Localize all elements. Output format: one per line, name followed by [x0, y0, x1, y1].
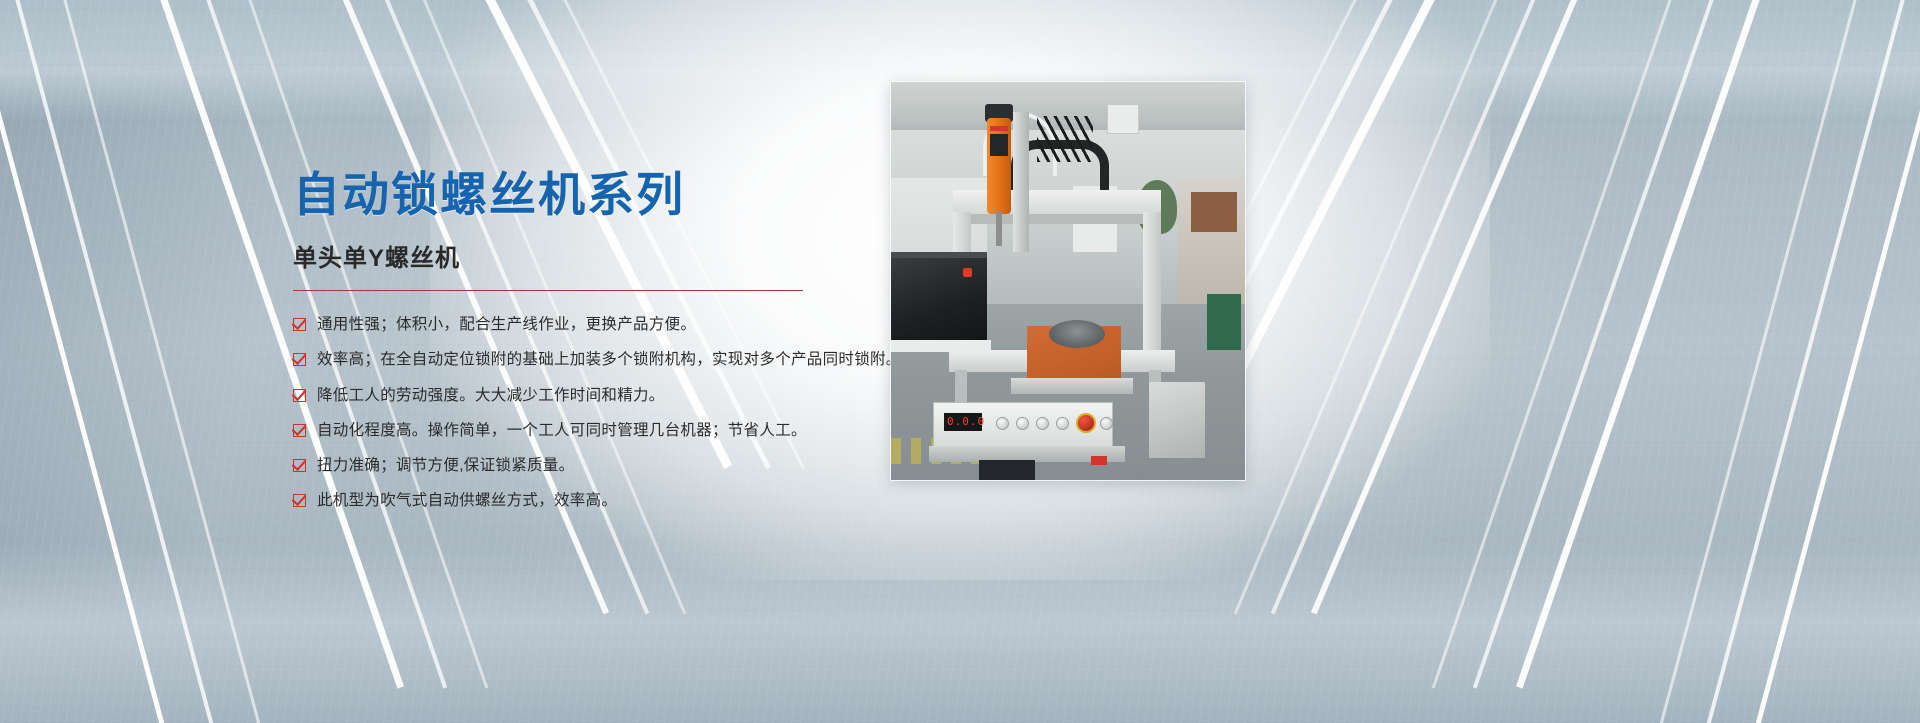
check-box-icon — [293, 318, 306, 331]
check-box-icon — [293, 353, 306, 366]
banner-content: 自动锁螺丝机系列 单头单Y螺丝机 通用性强；体积小，配合生产线作业，更换产品方便… — [293, 168, 913, 525]
panel-knob-4[interactable] — [1056, 417, 1069, 430]
screwdriver-label — [990, 134, 1008, 156]
feature-text: 效率高；在全自动定位锁附的基础上加装多个锁附机构，实现对多个产品同时锁附。 — [317, 348, 902, 371]
screw-feeder-unit — [891, 258, 987, 342]
machine-gantry-beam — [953, 190, 1161, 216]
panel-knob-1[interactable] — [996, 417, 1009, 430]
feature-list: 通用性强；体积小，配合生产线作业，更换产品方便。 效率高；在全自动定位锁附的基础… — [293, 313, 913, 513]
feeder-indicator-led — [963, 268, 972, 277]
feature-text: 此机型为吹气式自动供螺丝方式，效率高。 — [317, 489, 617, 512]
screwdriver-red-band — [990, 126, 1008, 131]
check-box-icon — [293, 424, 306, 437]
workpiece-disc — [1049, 320, 1105, 348]
check-box-icon — [293, 459, 306, 472]
screwdriver-bit — [996, 212, 1002, 246]
list-item: 效率高；在全自动定位锁附的基础上加装多个锁附机构，实现对多个产品同时锁附。 — [293, 348, 913, 371]
page-title: 自动锁螺丝机系列 — [293, 168, 913, 222]
machine-z-slide — [1013, 112, 1029, 252]
side-equipment — [1149, 382, 1205, 458]
feature-text: 扭力准确；调节方便,保证锁紧质量。 — [317, 454, 574, 477]
feeder-base-plate — [891, 340, 991, 352]
machine-wiring — [1037, 116, 1093, 162]
feature-text: 降低工人的劳动强度。大大减少工作时间和精力。 — [317, 384, 665, 407]
photo-wall-poster — [1107, 104, 1139, 134]
machine-foot-pedal — [979, 460, 1035, 480]
check-box-icon — [293, 389, 306, 402]
title-divider — [293, 290, 803, 291]
machine-gantry-rail — [953, 214, 1161, 224]
list-item: 扭力准确；调节方便,保证锁紧质量。 — [293, 454, 913, 477]
photo-carton — [1191, 192, 1237, 232]
list-item: 通用性强；体积小，配合生产线作业，更换产品方便。 — [293, 313, 913, 336]
power-switch[interactable] — [1091, 456, 1107, 465]
list-item: 此机型为吹气式自动供螺丝方式，效率高。 — [293, 489, 913, 512]
feature-text: 自动化程度高。操作简单，一个工人可同时管理几台机器；节省人工。 — [317, 419, 807, 442]
list-item: 降低工人的劳动强度。大大减少工作时间和精力。 — [293, 384, 913, 407]
product-banner: 自动锁螺丝机系列 单头单Y螺丝机 通用性强；体积小，配合生产线作业，更换产品方便… — [0, 0, 1920, 723]
panel-knob-2[interactable] — [1016, 417, 1029, 430]
product-photo: 0.0.0 — [891, 82, 1245, 480]
panel-power-knob[interactable] — [1100, 417, 1113, 430]
panel-display-value: 0.0.0 — [947, 416, 979, 428]
emergency-stop-button[interactable] — [1076, 413, 1096, 433]
control-panel: 0.0.0 — [933, 402, 1113, 448]
panel-knob-3[interactable] — [1036, 417, 1049, 430]
feature-text: 通用性强；体积小，配合生产线作业，更换产品方便。 — [317, 313, 696, 336]
screwdriver-head — [987, 118, 1011, 214]
list-item: 自动化程度高。操作简单，一个工人可同时管理几台机器；节省人工。 — [293, 419, 913, 442]
check-box-icon — [293, 494, 306, 507]
photo-bin — [1207, 294, 1241, 350]
y-axis-rail — [1011, 378, 1133, 394]
machine-column-right — [1143, 212, 1161, 362]
page-subtitle: 单头单Y螺丝机 — [293, 238, 913, 273]
